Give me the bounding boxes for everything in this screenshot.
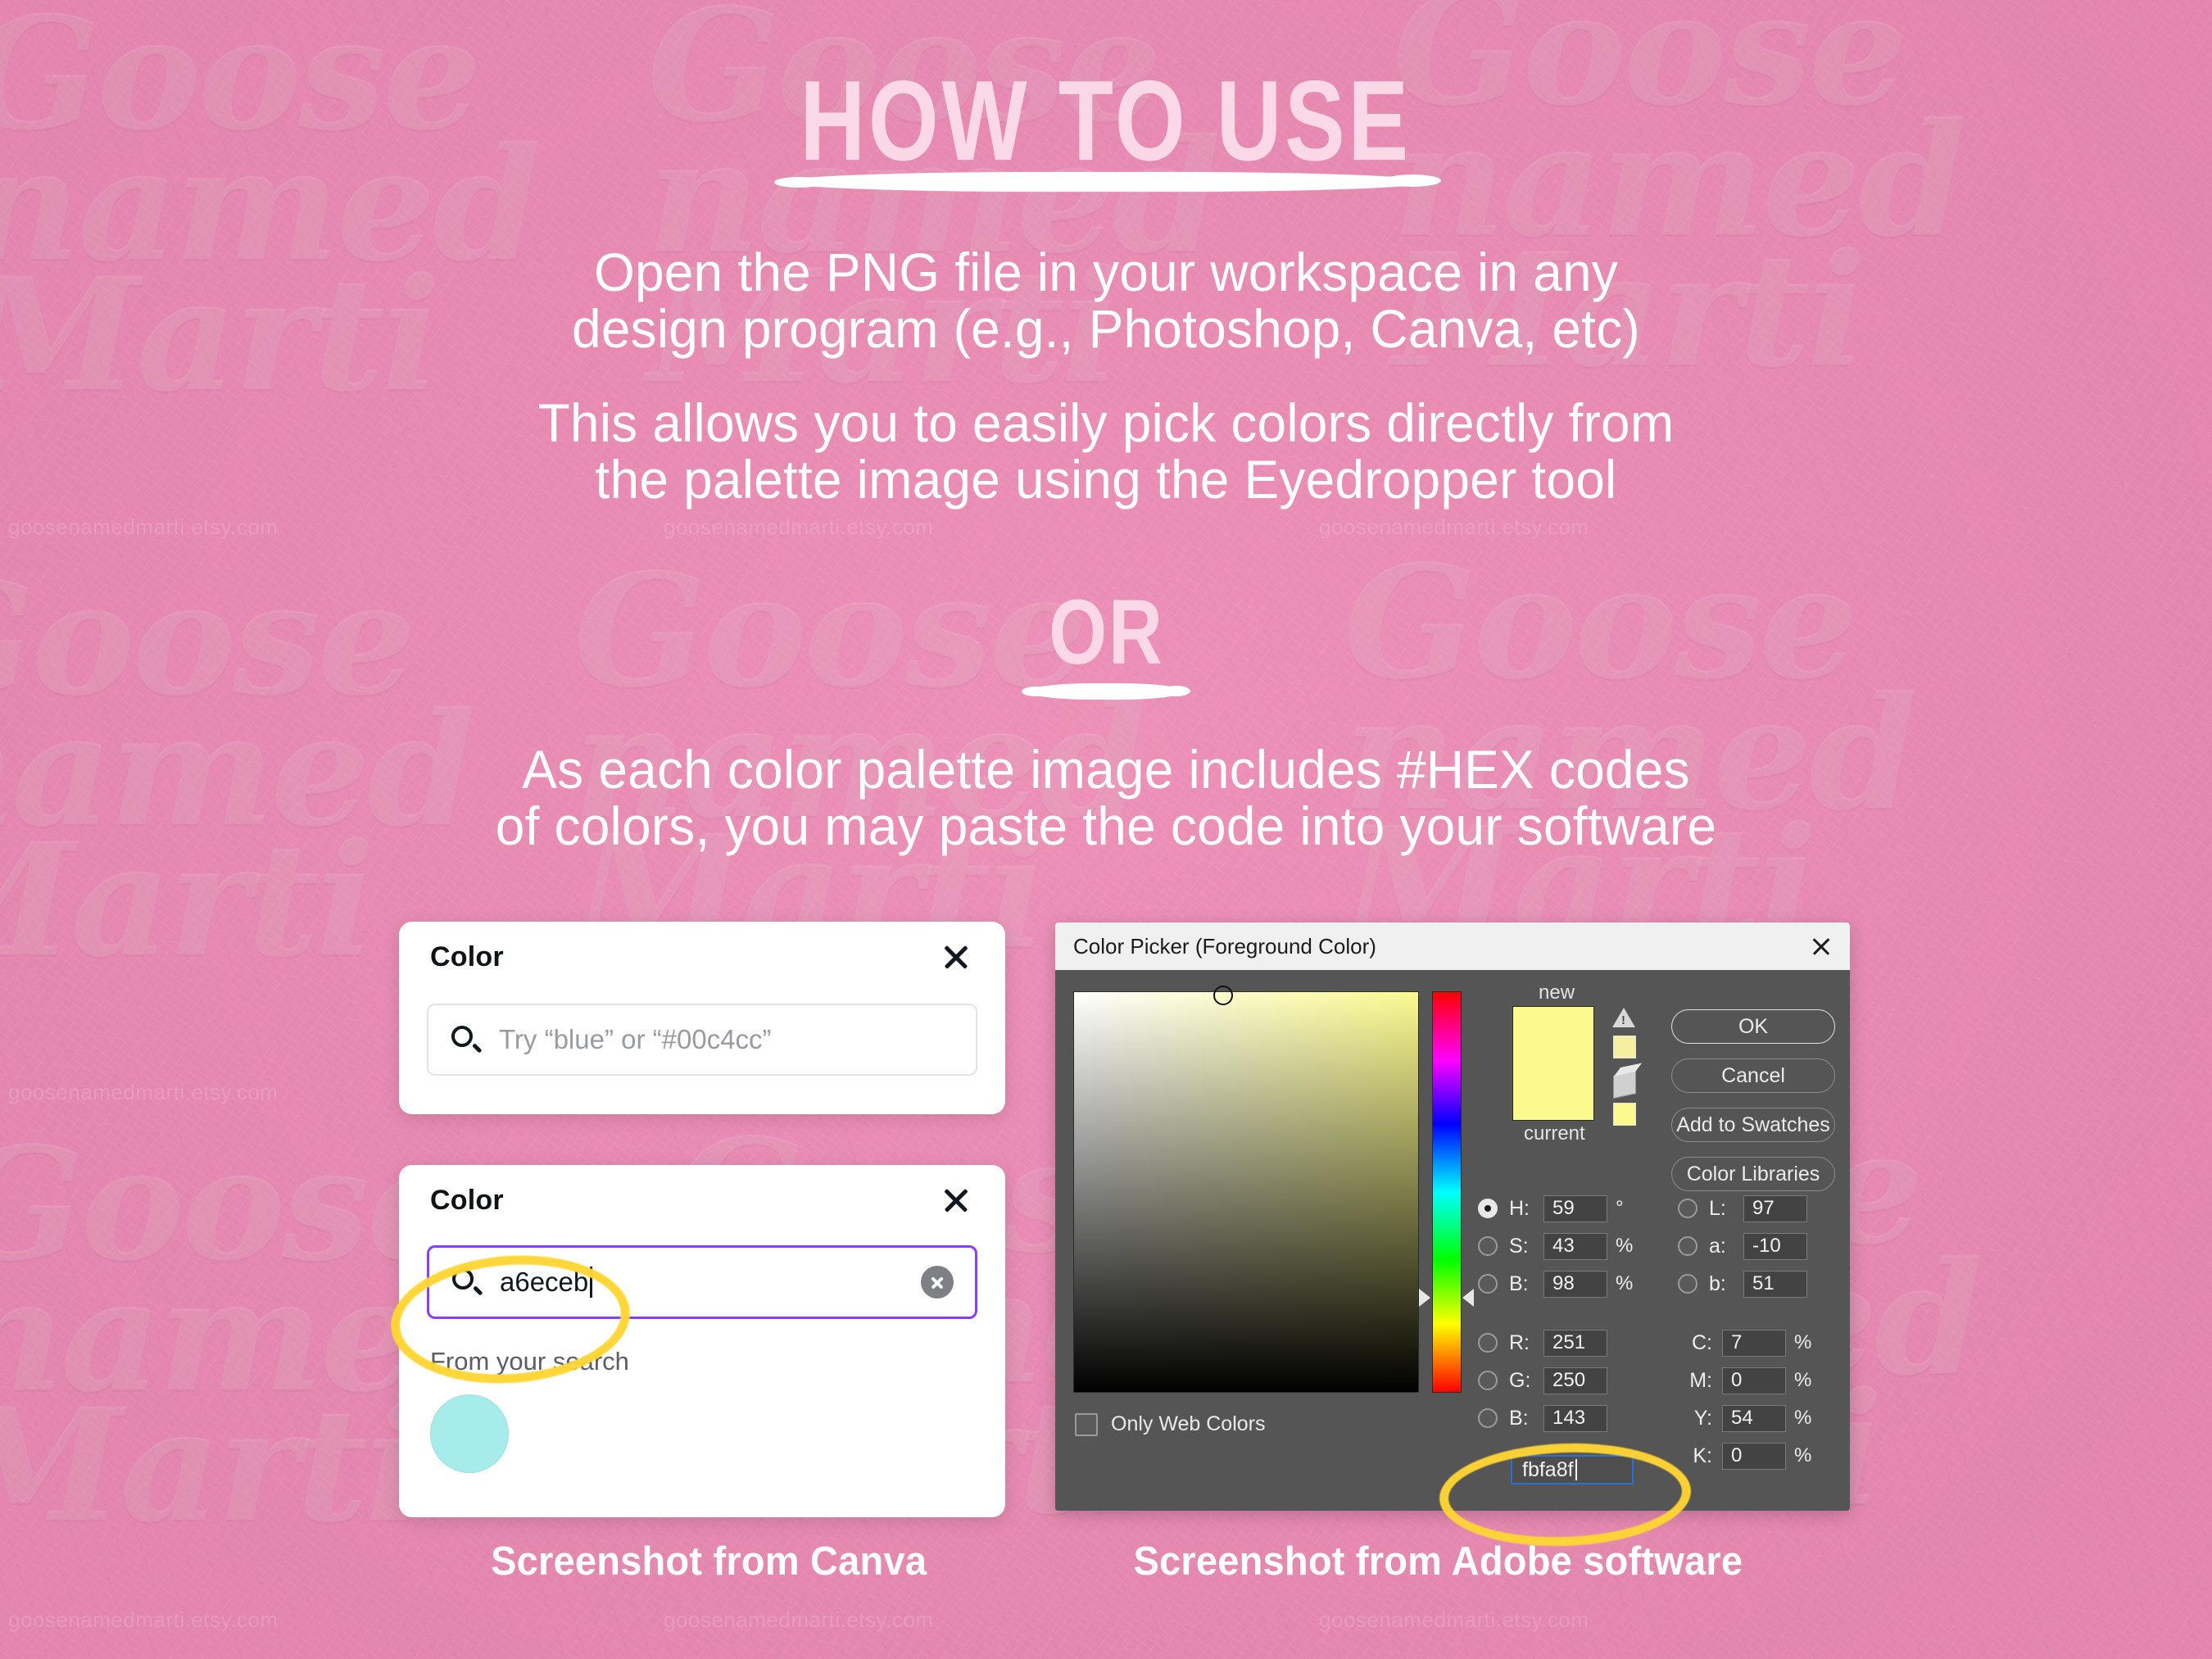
field-value-c[interactable]: 7 [1722,1330,1786,1357]
field-value-y[interactable]: 54 [1722,1405,1786,1432]
search-icon [451,1267,482,1298]
cube-icon[interactable] [1613,1071,1636,1099]
close-icon[interactable] [938,1182,974,1218]
cancel-button[interactable]: Cancel [1671,1058,1835,1093]
field-value-s[interactable]: 43 [1543,1233,1607,1260]
canva-panel-header: Color [399,922,1005,992]
new-current-color-swatch[interactable] [1512,1006,1594,1121]
field-unit-b-brightness: % [1616,1272,1643,1295]
text-caret [590,1267,592,1298]
field-value-b-brightness[interactable]: 98 [1543,1271,1607,1298]
radio-s[interactable] [1478,1236,1498,1256]
canva-color-panel-empty: Color Try “blue” or “#00c4cc” [399,922,1005,1114]
canva-search-placeholder: Try “blue” or “#00c4cc” [499,1024,772,1055]
field-unit-k: % [1794,1444,1822,1467]
or-divider-label: OR [1049,586,1163,678]
radio-g[interactable] [1478,1371,1498,1390]
or-underline-brush [1028,683,1184,700]
paragraph-line: the palette image using the Eyedropper t… [34,451,2179,508]
hue-marker-left [1419,1289,1430,1307]
field-value-k[interactable]: 0 [1722,1443,1786,1470]
paragraph-line: This allows you to easily pick colors di… [34,395,2179,451]
field-row-b-lab: b: 51 [1678,1265,1843,1303]
field-label-a: a: [1709,1235,1743,1258]
field-label-h: H: [1509,1197,1543,1221]
field-row-k: K: 0 % [1678,1437,1843,1475]
hue-marker-right [1462,1289,1474,1307]
field-value-h[interactable]: 59 [1543,1195,1607,1222]
paragraph-line: of colors, you may paste the code into y… [34,798,2179,854]
only-web-colors-checkbox[interactable]: Only Web Colors [1075,1412,1266,1436]
hue-slider[interactable] [1432,991,1462,1393]
title-underline-brush [782,172,1430,192]
field-value-g[interactable]: 250 [1543,1367,1607,1394]
page-title-block: HOW TO USE [0,64,2212,162]
field-label-c: C: [1678,1331,1712,1355]
field-label-b-lab: b: [1709,1272,1743,1296]
field-value-l[interactable]: 97 [1743,1195,1807,1222]
paragraph-hex-codes: As each color palette image includes #HE… [34,741,2179,854]
web-safe-swatch[interactable] [1613,1103,1636,1126]
radio-l[interactable] [1678,1199,1698,1218]
radio-b-lab[interactable] [1678,1274,1698,1294]
radio-r[interactable] [1478,1333,1498,1353]
canva-panel-title: Color [430,941,504,973]
radio-a[interactable] [1678,1236,1698,1256]
ok-button[interactable]: OK [1671,1009,1835,1044]
field-unit-s: % [1616,1235,1643,1258]
radio-b-brightness[interactable] [1478,1274,1498,1294]
photoshop-color-picker-dialog: Color Picker (Foreground Color) Only Web… [1055,922,1850,1511]
paragraph-line: design program (e.g., Photoshop, Canva, … [34,301,2179,357]
field-value-r[interactable]: 251 [1543,1330,1607,1357]
hex-field-row: fbfa8f [1511,1455,1634,1484]
lab-cmyk-fields: L: 97 a: -10 b: 51 C: 7 % M [1678,1190,1843,1475]
hex-value-text: fbfa8f [1522,1458,1574,1482]
field-row-m: M: 0 % [1678,1362,1843,1399]
dialog-title: Color Picker (Foreground Color) [1073,934,1376,959]
field-value-b-lab[interactable]: 51 [1743,1271,1807,1298]
field-row-r: R: 251 [1478,1324,1643,1362]
field-value-b-blue[interactable]: 143 [1543,1405,1607,1432]
canva-panel-header: Color [399,1165,1005,1235]
add-to-swatches-button[interactable]: Add to Swatches [1671,1108,1835,1142]
paragraph-eyedropper: This allows you to easily pick colors di… [34,395,2179,507]
field-row-c: C: 7 % [1678,1324,1843,1362]
clear-circle-icon[interactable] [921,1266,954,1299]
sv-selection-ring[interactable] [1213,986,1233,1005]
canva-result-swatch[interactable] [430,1394,509,1473]
canva-search-input-focused[interactable]: a6eceb [427,1245,977,1319]
field-label-m: M: [1678,1369,1712,1393]
current-color-label: current [1524,1122,1585,1145]
text-caret [1575,1459,1578,1480]
dialog-body: Only Web Colors new current OK Cancel Ad… [1055,970,1850,1511]
field-row-y: Y: 54 % [1678,1399,1843,1437]
caption-canva: Screenshot from Canva [491,1539,927,1584]
canva-color-panel-filled: Color a6eceb From your search [399,1165,1005,1517]
field-value-m[interactable]: 0 [1722,1367,1786,1394]
radio-h[interactable] [1478,1199,1498,1218]
field-label-k: K: [1678,1444,1712,1468]
field-row-g: G: 250 [1478,1362,1643,1399]
paragraph-open-png: Open the PNG file in your workspace in a… [34,244,2179,356]
field-label-b-brightness: B: [1509,1272,1543,1296]
canva-results-label: From your search [430,1347,1005,1376]
field-row-a: a: -10 [1678,1227,1843,1265]
saturation-value-field[interactable] [1073,991,1419,1393]
color-libraries-button[interactable]: Color Libraries [1671,1157,1835,1191]
field-value-a[interactable]: -10 [1743,1233,1807,1260]
new-color-label: new [1539,981,1575,1004]
search-icon [450,1024,481,1055]
field-row-h: H: 59 ° [1478,1190,1643,1227]
field-row-s: S: 43 % [1478,1227,1643,1265]
or-divider-block: OR [0,592,2212,672]
field-unit-c: % [1794,1331,1822,1354]
canva-search-input[interactable]: Try “blue” or “#00c4cc” [427,1004,977,1076]
checkbox-box [1075,1413,1098,1436]
field-unit-h: ° [1616,1197,1643,1220]
field-row-b-blue: B: 143 [1478,1399,1643,1437]
hex-value-input[interactable]: fbfa8f [1511,1455,1634,1484]
canva-search-value: a6eceb [500,1267,592,1298]
warning-triangle-icon[interactable] [1612,1008,1635,1027]
radio-b-blue[interactable] [1478,1408,1498,1428]
paragraph-line: Open the PNG file in your workspace in a… [34,244,2179,301]
field-label-l: L: [1709,1197,1743,1221]
field-label-b-blue: B: [1509,1407,1543,1430]
field-unit-y: % [1794,1407,1822,1430]
only-web-colors-label: Only Web Colors [1111,1412,1266,1436]
close-icon[interactable] [1809,934,1834,959]
caption-adobe: Screenshot from Adobe software [1133,1539,1743,1584]
field-label-g: G: [1509,1369,1543,1393]
paragraph-line: As each color palette image includes #HE… [34,741,2179,798]
page-title: HOW TO USE [800,64,1412,178]
gamut-safe-swatch[interactable] [1613,1036,1636,1058]
sv-black-gradient [1074,992,1418,1392]
field-unit-m: % [1794,1369,1822,1392]
field-label-y: Y: [1678,1407,1712,1430]
field-label-s: S: [1509,1235,1543,1258]
canva-panel-title: Color [430,1185,504,1217]
canva-search-value-text: a6eceb [500,1267,588,1297]
field-row-l: L: 97 [1678,1190,1843,1227]
dialog-title-bar: Color Picker (Foreground Color) [1055,922,1850,970]
field-label-r: R: [1509,1331,1543,1355]
hsb-rgb-fields: H: 59 ° S: 43 % B: 98 % R: 251 [1478,1190,1643,1437]
field-row-b-brightness: B: 98 % [1478,1265,1643,1303]
close-icon[interactable] [938,939,974,975]
